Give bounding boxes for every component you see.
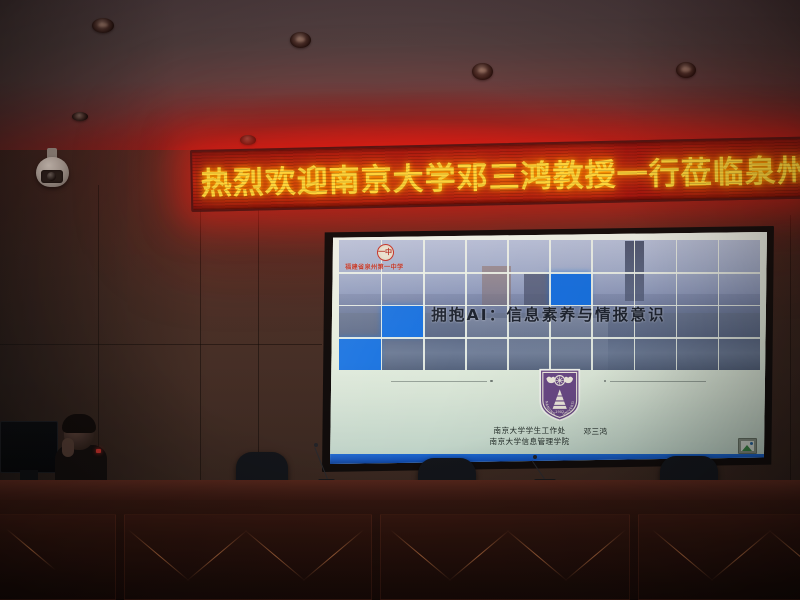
- camera-lens-icon: [41, 170, 63, 183]
- wood-panel: [0, 514, 116, 600]
- credits-org-line2: 南京大学信息管理学院: [490, 436, 570, 447]
- decorative-dot-right: [604, 380, 607, 383]
- decorative-rule-right: [610, 381, 706, 382]
- decorative-dot-left: [490, 380, 493, 383]
- credits-org-line1: 南京大学学生工作处: [490, 425, 570, 436]
- wood-panel: [124, 514, 372, 600]
- monitor-stand: [20, 470, 38, 480]
- school-badge-icon: 一中: [349, 241, 421, 263]
- person-hair: [62, 414, 96, 433]
- nanjing-university-crest-icon: 1902 NANJING UNIVERSITY: [537, 368, 582, 421]
- image-placeholder-icon: [738, 438, 757, 454]
- downlight-icon: [92, 18, 114, 33]
- downlight-icon: [676, 62, 696, 78]
- downlight-icon: [72, 112, 88, 121]
- slide-credits: 南京大学学生工作处 南京大学信息管理学院 邓三鸿: [330, 425, 767, 447]
- presentation-slide: 一中 福建省泉州第一中学 拥抱AI：信息素养与情报意识: [330, 232, 767, 464]
- person-badge-icon: [96, 449, 101, 453]
- mosaic-tile-highlight: [339, 337, 381, 369]
- downlight-icon: [290, 32, 311, 48]
- person-hand: [62, 438, 74, 457]
- microphone: [318, 443, 340, 485]
- school-seal-text: 一中: [377, 244, 394, 261]
- slide-title: 拥抱AI：信息素养与情报意识: [330, 303, 767, 325]
- wood-panel: [380, 514, 630, 600]
- credits-speaker-name: 邓三鸿: [583, 426, 607, 437]
- mosaic-tile-highlight: [549, 272, 591, 304]
- led-banner: 热烈欢迎南京大学邓三鸿教授一行莅临泉州: [190, 136, 800, 212]
- lecture-hall-photo: 热烈欢迎南京大学邓三鸿教授一行莅临泉州: [0, 0, 800, 600]
- projection-screen: 一中 福建省泉州第一中学 拥抱AI：信息素养与情报意识: [330, 232, 767, 464]
- downlight-icon: [240, 135, 256, 145]
- school-name-label: 福建省泉州第一中学: [345, 262, 438, 271]
- decorative-rule-left: [391, 381, 487, 382]
- downlight-icon: [472, 63, 493, 80]
- computer-monitor: [0, 421, 58, 473]
- credits-organisation: 南京大学学生工作处 南京大学信息管理学院: [490, 425, 570, 447]
- wood-panel: [638, 514, 800, 600]
